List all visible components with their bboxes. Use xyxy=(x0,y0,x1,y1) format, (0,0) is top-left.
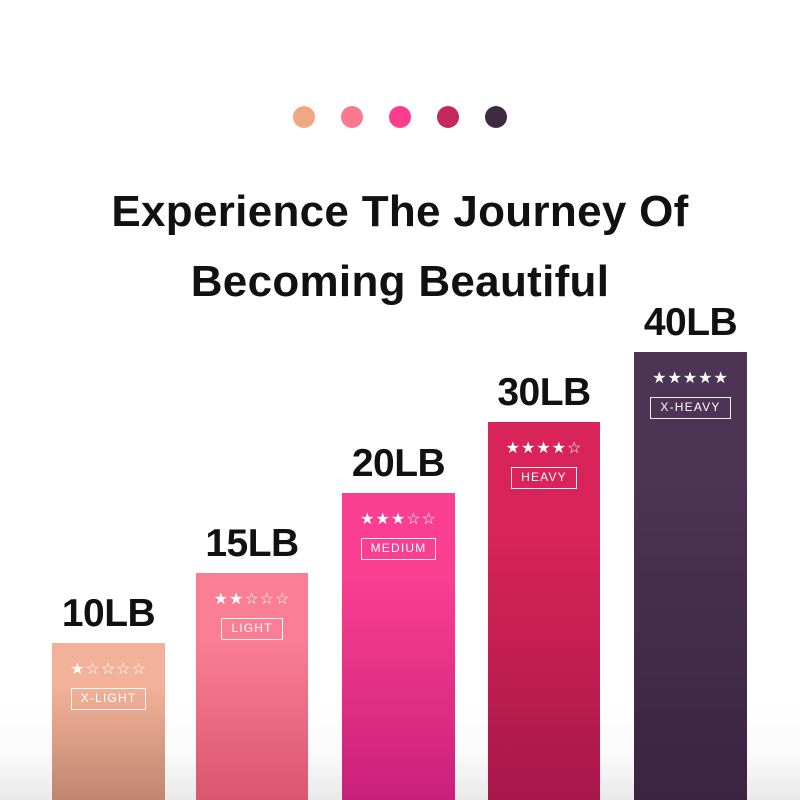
bar[interactable]: ★☆☆☆☆X-LIGHT xyxy=(52,643,165,800)
resistance-bar-chart: 10LB★☆☆☆☆X-LIGHT15LB★★☆☆☆LIGHT20LB★★★☆☆M… xyxy=(0,0,800,800)
tier-badge: X-HEAVY xyxy=(650,397,730,419)
bar-value-label: 15LB xyxy=(196,522,308,573)
bar-group[interactable]: 15LB★★☆☆☆LIGHT xyxy=(196,573,308,800)
bar-content: ★★★☆☆MEDIUM xyxy=(342,511,455,560)
tier-badge: MEDIUM xyxy=(361,538,437,560)
bar-content: ★☆☆☆☆X-LIGHT xyxy=(52,661,165,710)
star-rating: ★★★☆☆ xyxy=(342,511,455,529)
bar-value-label: 40LB xyxy=(634,301,747,352)
star-rating: ★☆☆☆☆ xyxy=(52,661,165,679)
bar-value-label: 20LB xyxy=(342,442,455,493)
bar[interactable]: ★★★★★X-HEAVY xyxy=(634,352,747,800)
bar-group[interactable]: 30LB★★★★☆HEAVY xyxy=(488,422,600,800)
star-rating: ★★☆☆☆ xyxy=(196,591,308,609)
bar[interactable]: ★★☆☆☆LIGHT xyxy=(196,573,308,800)
tier-badge: HEAVY xyxy=(511,467,577,489)
bar-value-label: 10LB xyxy=(52,592,165,643)
tier-badge: X-LIGHT xyxy=(71,688,147,710)
star-rating: ★★★★★ xyxy=(634,370,747,388)
bar[interactable]: ★★★☆☆MEDIUM xyxy=(342,493,455,800)
star-rating: ★★★★☆ xyxy=(488,440,600,458)
poster-canvas: Experience The Journey Of Becoming Beaut… xyxy=(0,0,800,800)
bar-group[interactable]: 10LB★☆☆☆☆X-LIGHT xyxy=(52,643,165,800)
bar-fill xyxy=(634,352,747,800)
tier-badge: LIGHT xyxy=(221,618,282,640)
bar[interactable]: ★★★★☆HEAVY xyxy=(488,422,600,800)
bar-group[interactable]: 20LB★★★☆☆MEDIUM xyxy=(342,493,455,800)
bar-content: ★★☆☆☆LIGHT xyxy=(196,591,308,640)
bar-group[interactable]: 40LB★★★★★X-HEAVY xyxy=(634,352,747,800)
bar-content: ★★★★☆HEAVY xyxy=(488,440,600,489)
bar-content: ★★★★★X-HEAVY xyxy=(634,370,747,419)
bar-value-label: 30LB xyxy=(488,371,600,422)
